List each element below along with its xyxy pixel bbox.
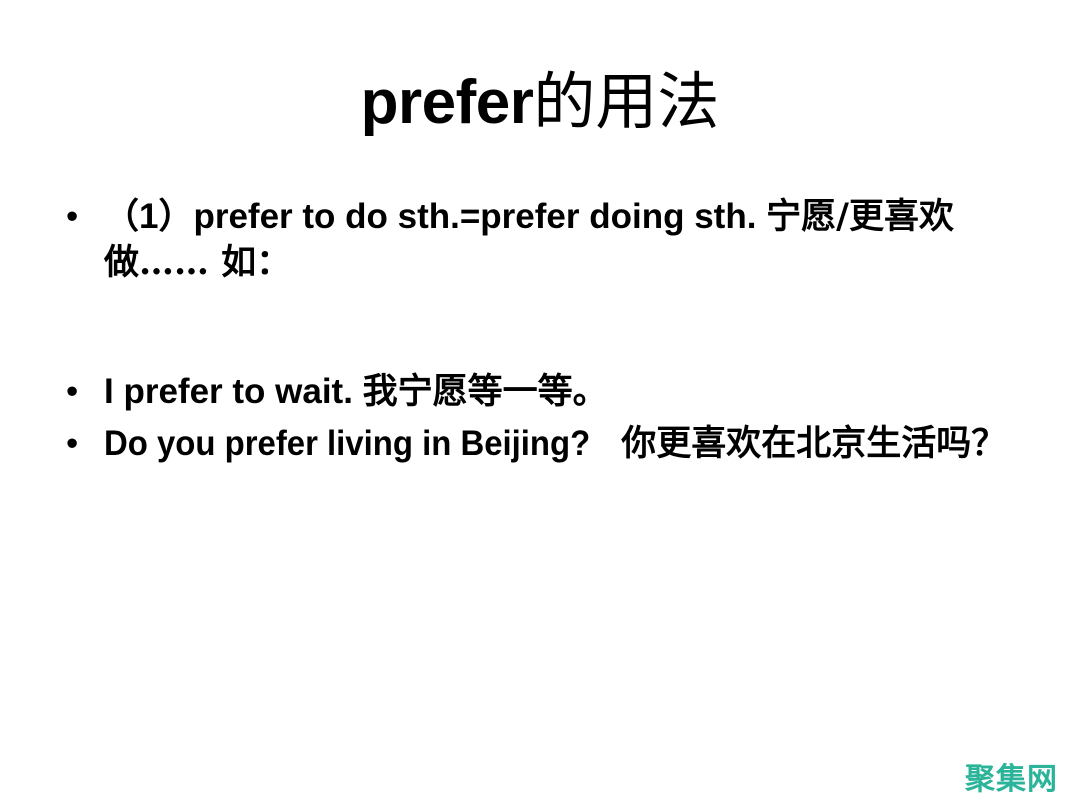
list-item-text: I prefer to wait. 我宁愿等一等。 [104, 369, 1030, 415]
list-item-text: Do you prefer living in Beijing?你更喜欢在北京生… [104, 421, 1030, 467]
list-item: • Do you prefer living in Beijing?你更喜欢在北… [58, 421, 1030, 467]
page-title-chinese: 的用法 [533, 65, 719, 138]
page-title-english: prefer [361, 68, 534, 137]
blank-line-spacer [58, 285, 1030, 369]
bullet-2-english: I prefer to wait. [104, 372, 363, 411]
slide-canvas: prefer的用法 • （1）prefer to do sth.=prefer … [0, 0, 1080, 810]
bullet-1-line-1-english: （1）prefer to do sth.=prefer doing sth. [104, 197, 766, 236]
bullet-marker-icon: • [66, 194, 90, 240]
bullet-marker-icon: • [66, 421, 90, 467]
list-item: • （1）prefer to do sth.=prefer doing sth.… [58, 194, 1030, 285]
bullet-1-line-1-chinese: 宁愿 [766, 196, 836, 237]
bullet-3-english: Do you prefer living in Beijing? [104, 421, 590, 467]
bullet-list: • （1）prefer to do sth.=prefer doing sth.… [58, 194, 1030, 466]
page-title: prefer的用法 [0, 69, 1080, 135]
list-item-text: （1）prefer to do sth.=prefer doing sth. 宁… [104, 194, 1030, 285]
bullet-2-chinese: 我宁愿等一等。 [363, 371, 608, 412]
watermark-logo: 聚集网 [965, 754, 1058, 798]
bullet-3-chinese: 你更喜欢在北京生活吗？ [621, 423, 1006, 464]
list-item: • I prefer to wait. 我宁愿等一等。 [58, 369, 1030, 415]
bullet-marker-icon: • [66, 369, 90, 415]
